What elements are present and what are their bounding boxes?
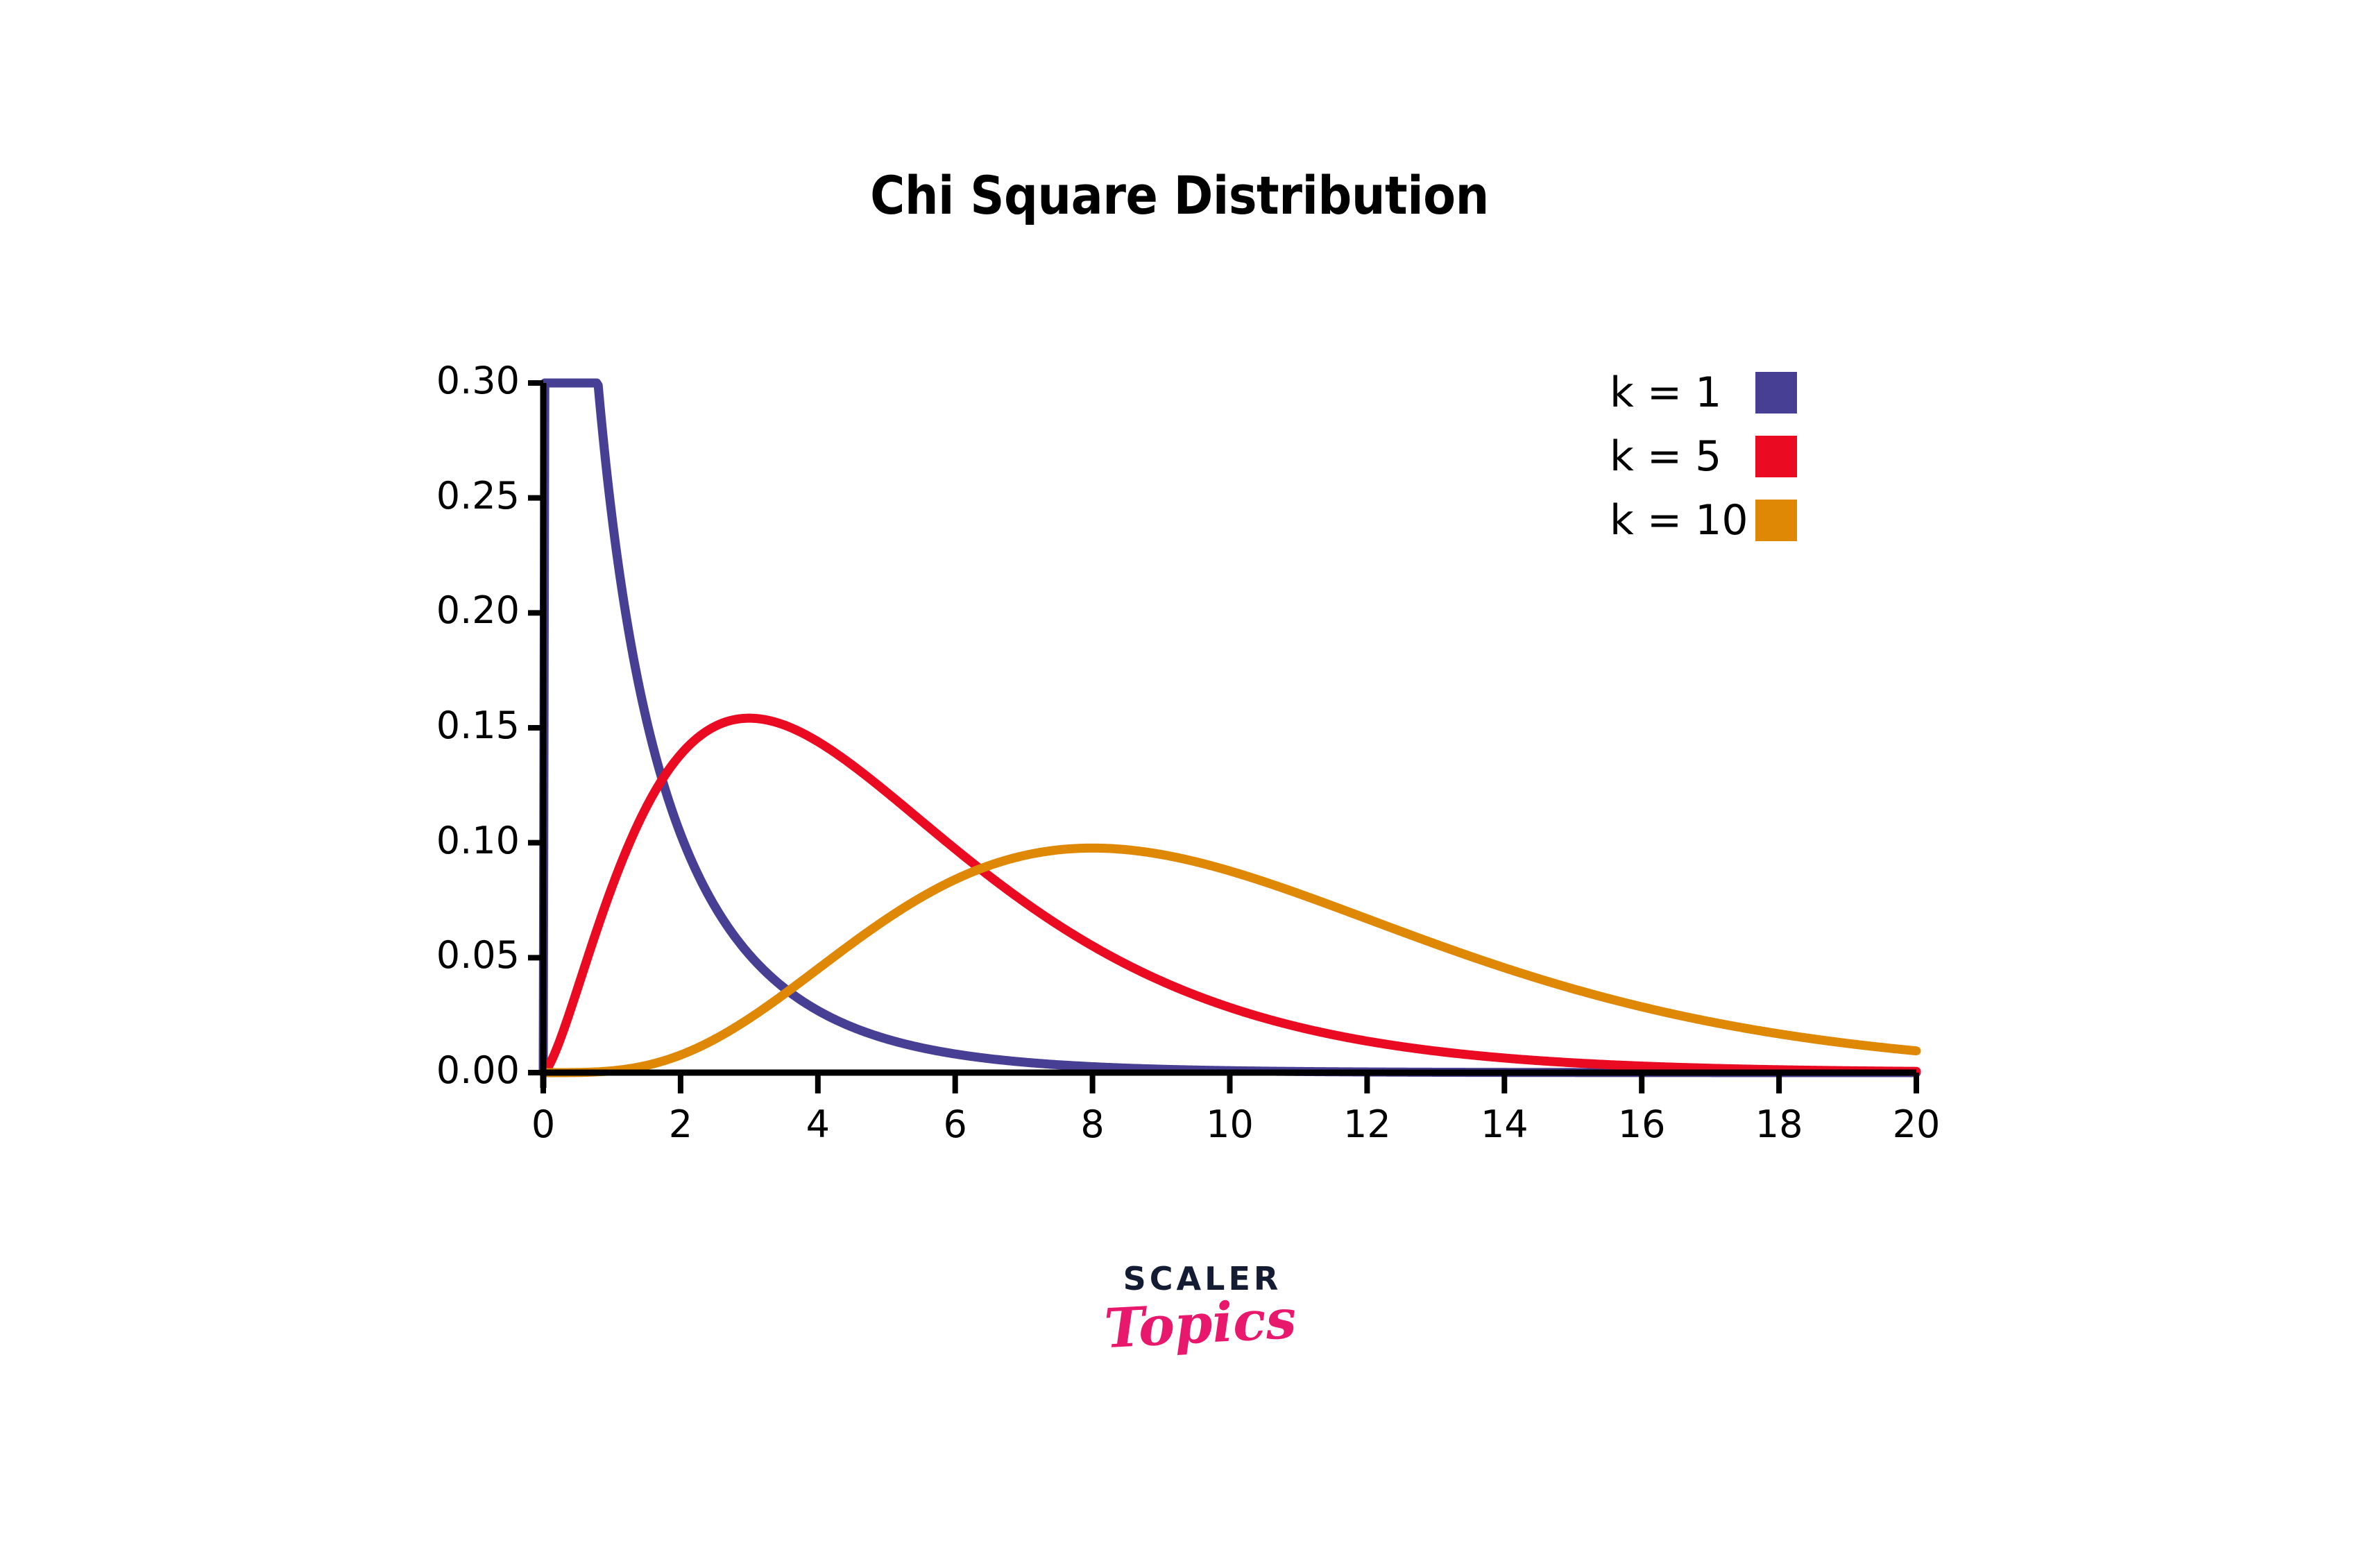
legend-item-1[interactable]: k = 1	[1610, 361, 1859, 425]
legend-item-label: k = 10	[1610, 500, 1755, 541]
chart-figure: Chi Square Distribution 0.000.050.100.15…	[0, 0, 2359, 1568]
logo-sub-text: Topics	[1060, 1290, 1340, 1359]
x-tick-label: 16	[1600, 1106, 1683, 1143]
y-tick-label: 0.10	[436, 822, 520, 860]
x-tick-label: 2	[639, 1106, 722, 1143]
y-tick-label: 0.25	[436, 477, 520, 515]
y-tick-label: 0.15	[436, 707, 520, 744]
y-tick-label: 0.00	[436, 1052, 520, 1089]
chart-legend: k = 1k = 5k = 10	[1610, 361, 1859, 552]
x-tick-label: 12	[1325, 1106, 1408, 1143]
legend-item-3[interactable]: k = 10	[1610, 488, 1859, 552]
x-tick-label: 10	[1189, 1106, 1272, 1143]
x-tick-label: 14	[1463, 1106, 1546, 1143]
x-tick-label: 18	[1737, 1106, 1821, 1143]
x-tick-label: 4	[776, 1106, 860, 1143]
legend-item-2[interactable]: k = 5	[1610, 425, 1859, 488]
x-tick-label: 6	[914, 1106, 997, 1143]
legend-color-swatch	[1755, 500, 1797, 541]
y-tick-label: 0.20	[436, 592, 520, 629]
logo-brand-text: SCALER	[1066, 1263, 1339, 1295]
x-tick-label: 0	[502, 1106, 585, 1143]
y-tick-label: 0.05	[436, 937, 520, 974]
x-tick-label: 20	[1875, 1106, 1958, 1143]
x-tick-label: 8	[1051, 1106, 1134, 1143]
legend-item-label: k = 5	[1610, 436, 1755, 477]
legend-color-swatch	[1755, 372, 1797, 414]
y-tick-label: 0.30	[436, 362, 520, 400]
scaler-topics-logo: SCALER Topics	[1062, 1263, 1339, 1352]
legend-color-swatch	[1755, 436, 1797, 477]
legend-item-label: k = 1	[1610, 372, 1755, 414]
